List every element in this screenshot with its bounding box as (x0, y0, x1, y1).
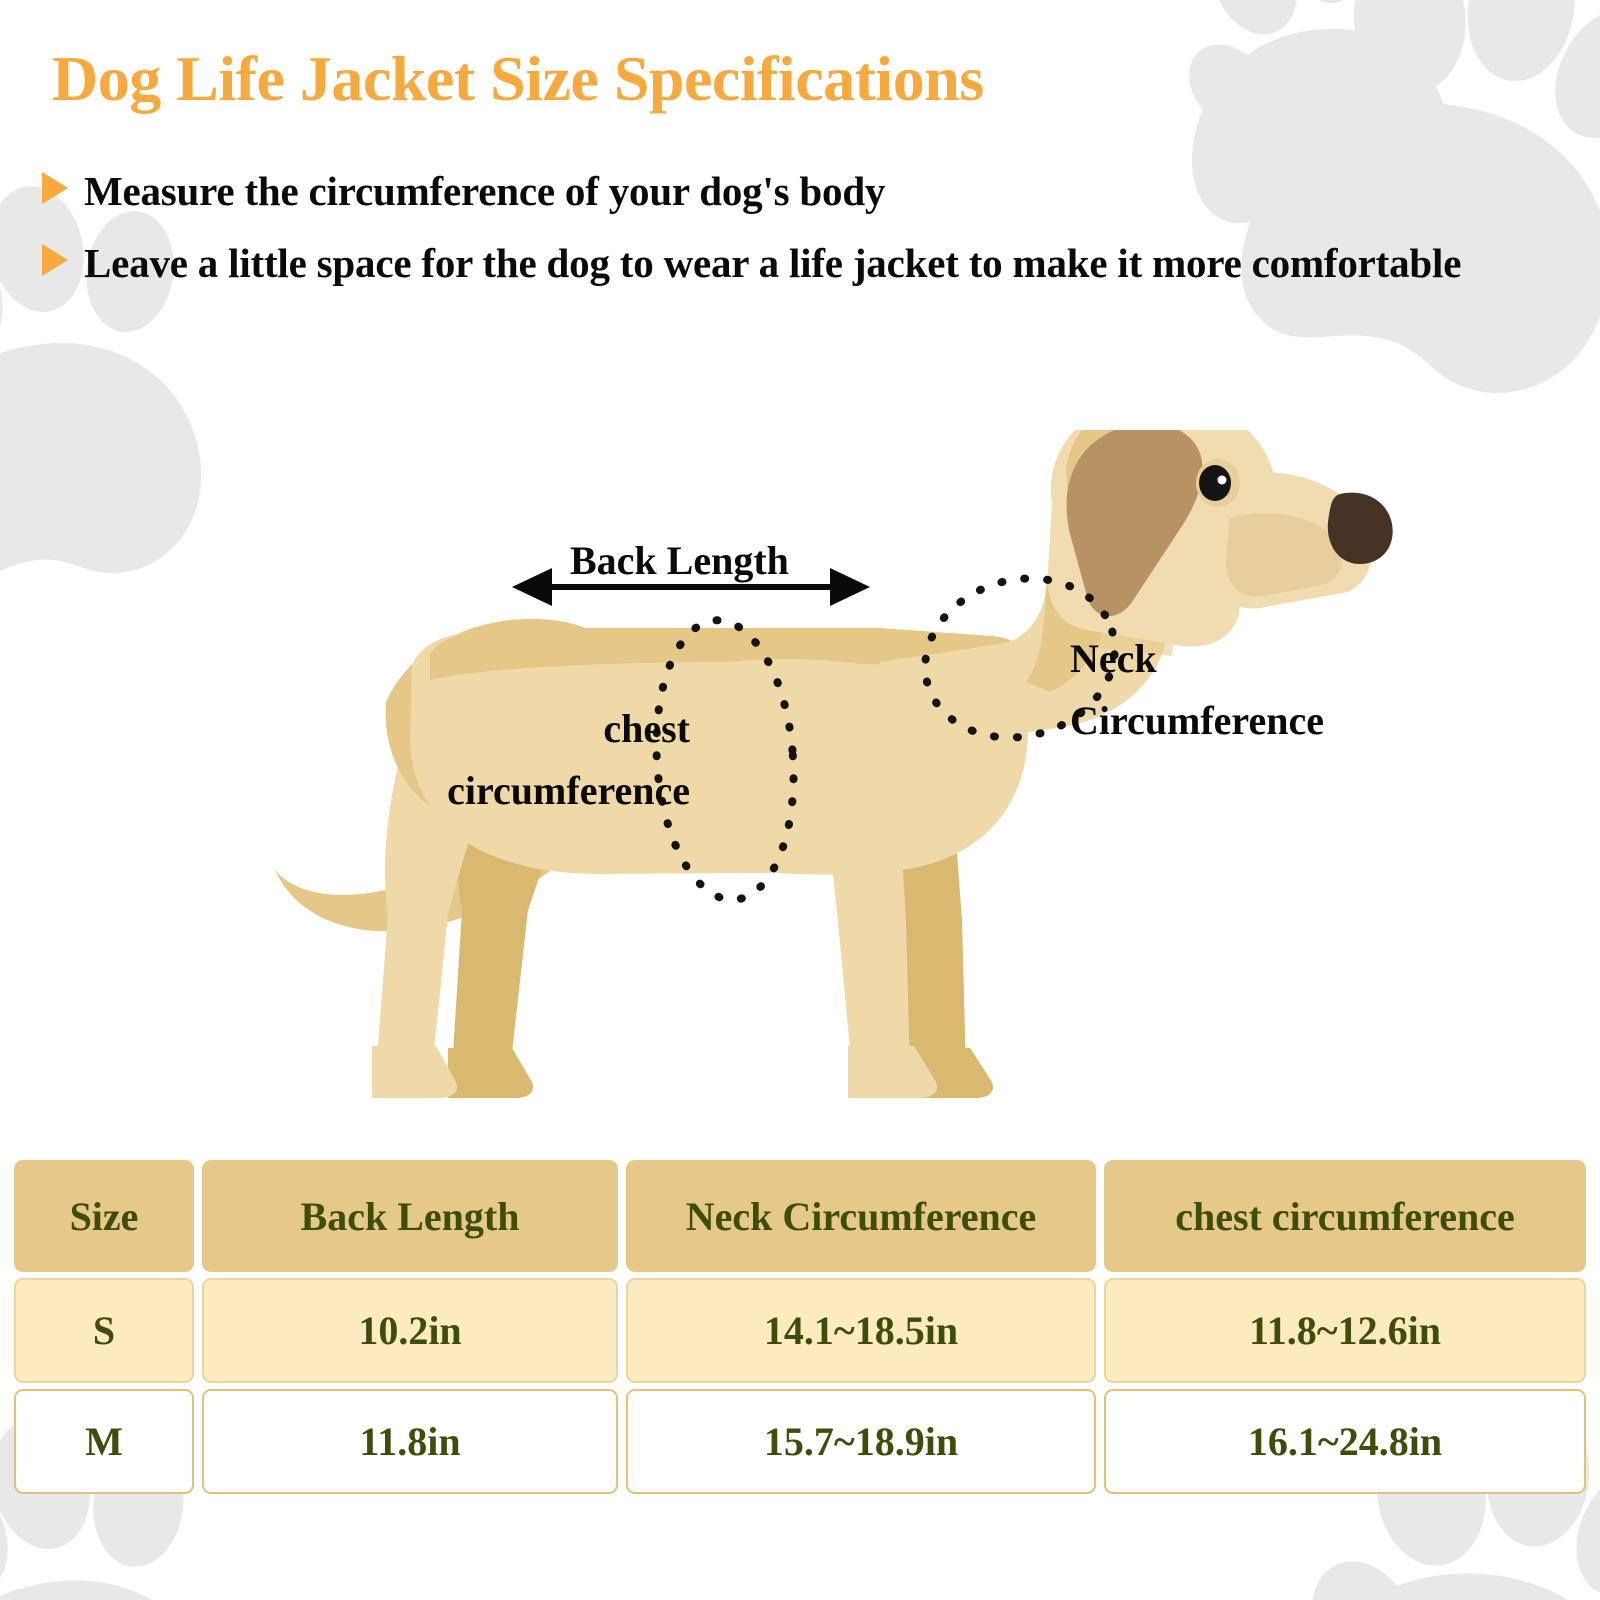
cell-size: M (14, 1389, 194, 1494)
dog-nose (1328, 493, 1393, 564)
triangle-right-icon (42, 244, 68, 276)
column-header-neck-circumference: Neck Circumference (626, 1160, 1096, 1272)
instruction-list: Measure the circumference of your dog's … (42, 158, 1522, 303)
dog-side-view-illustration (180, 430, 1500, 1130)
column-header-size: Size (14, 1160, 194, 1272)
dog-eye (1199, 465, 1231, 501)
table-row: S 10.2in 14.1~18.5in 11.8~12.6in (14, 1278, 1586, 1383)
label-neck-circumference: Neck Circumference (1070, 628, 1324, 752)
list-item: Leave a little space for the dog to wear… (42, 230, 1522, 296)
label-chest-circumference: chest circumference (380, 698, 690, 822)
cell-neck-circumference: 14.1~18.5in (626, 1278, 1096, 1383)
cell-chest-circumference: 11.8~12.6in (1104, 1278, 1586, 1383)
size-specification-table: Size Back Length Neck Circumference ches… (14, 1160, 1586, 1494)
cell-chest-circumference: 16.1~24.8in (1104, 1389, 1586, 1494)
instruction-text: Leave a little space for the dog to wear… (84, 230, 1461, 296)
column-header-back-length: Back Length (202, 1160, 618, 1272)
cell-size: S (14, 1278, 194, 1383)
table-row: M 11.8in 15.7~18.9in 16.1~24.8in (14, 1389, 1586, 1494)
column-header-chest-circumference: chest circumference (1104, 1160, 1586, 1272)
page-title: Dog Life Jacket Size Specifications (52, 42, 984, 116)
dog-rear-paw-near (372, 1046, 457, 1098)
cell-back-length: 10.2in (202, 1278, 618, 1383)
list-item: Measure the circumference of your dog's … (42, 158, 1522, 224)
dog-eye-highlight (1218, 476, 1227, 485)
cell-back-length: 11.8in (202, 1389, 618, 1494)
label-back-length: Back Length (570, 530, 789, 592)
dog-measurement-diagram: Back Length Neck Circumference chest cir… (180, 430, 1500, 1130)
triangle-right-icon (42, 172, 68, 204)
instruction-text: Measure the circumference of your dog's … (84, 158, 885, 224)
table-header-row: Size Back Length Neck Circumference ches… (14, 1160, 1586, 1272)
cell-neck-circumference: 15.7~18.9in (626, 1389, 1096, 1494)
dog-rear-paw-far (448, 1048, 533, 1098)
